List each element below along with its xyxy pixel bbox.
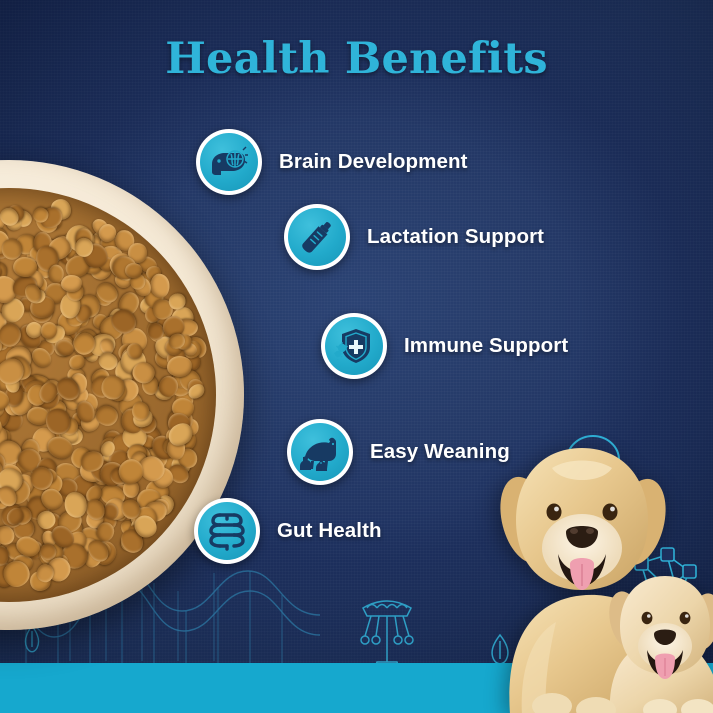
benefit-badge[interactable] [194,498,260,564]
shield-plus-virus-icon [334,326,374,366]
intestines-icon [207,511,247,551]
benefit-item-gut-health[interactable]: Gut Health [194,498,382,564]
benefit-label: Immune Support [404,334,568,358]
benefit-item-immune-support[interactable]: Immune Support [321,313,568,379]
kibble-pellet [125,263,142,278]
benefit-label: Brain Development [279,150,468,174]
benefit-badge[interactable] [284,204,350,270]
benefit-label: Lactation Support [367,225,544,249]
kibble-pellet [30,466,53,490]
benefit-badge[interactable] [196,129,262,195]
benefit-item-brain-development[interactable]: Brain Development [196,129,468,195]
poster-canvas: Health Benefits Brain Development [0,0,713,713]
benefit-badge[interactable] [321,313,387,379]
page-title: Health Benefits [0,34,713,84]
benefit-label: Gut Health [277,519,382,543]
golden-retriever-dogs-image [492,424,713,713]
benefit-label: Easy Weaning [370,440,510,464]
baby-bottle-icon [297,217,337,257]
carousel-line-art [355,592,419,668]
mother-dog-puppies-icon [299,431,341,473]
benefit-item-easy-weaning[interactable]: Easy Weaning [287,419,510,485]
benefit-badge[interactable] [287,419,353,485]
dog-head-brain-icon [209,142,249,182]
benefit-item-lactation-support[interactable]: Lactation Support [284,204,544,270]
